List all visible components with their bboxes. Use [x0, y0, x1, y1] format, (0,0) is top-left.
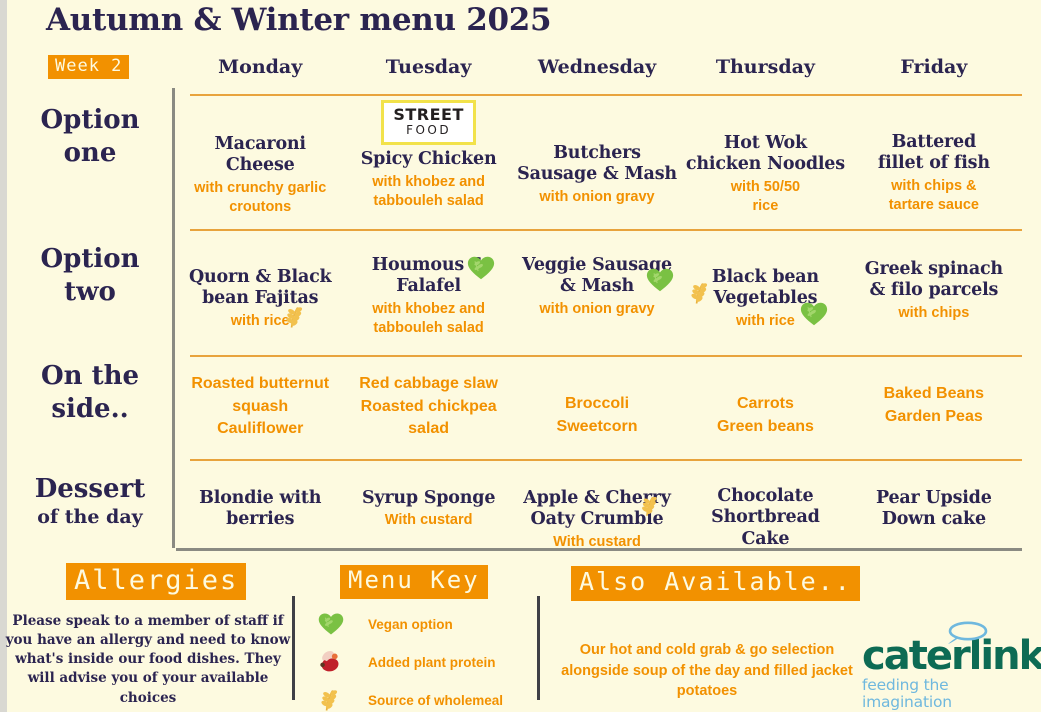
dish-name: Syrup Sponge	[348, 488, 508, 509]
row-label-option-one: Option one	[10, 104, 170, 171]
row-label-dessert: Dessert of the day	[10, 473, 170, 529]
menu-cell: Black beanVegetables with rice	[681, 231, 849, 355]
wholemeal-wheat-icon	[687, 279, 715, 307]
allergies-text: Please speak to a member of staff if you…	[2, 612, 294, 708]
allergies-title: Allergies	[66, 563, 246, 600]
dish-description: with khobez andtabbouleh salad	[348, 300, 508, 339]
vegan-heart-icon	[799, 299, 827, 327]
menu-cell: Apple & CherryOaty Crumble With custard	[513, 461, 681, 548]
menu-cell: MacaroniCheese with crunchy garliccrouto…	[176, 96, 344, 229]
menu-cell: Syrup Sponge With custard	[344, 461, 512, 548]
street-food-line1: STREET	[393, 107, 464, 123]
dish-description: with chips &tartare sauce	[854, 177, 1014, 216]
menu-key-item: Added plant protein	[310, 643, 530, 681]
row-label-line1: Dessert	[10, 473, 170, 506]
dish-description: with onion gravy	[517, 188, 677, 208]
side-items: CarrotsGreen beans	[685, 393, 845, 438]
dish-name: Blondie withberries	[180, 488, 340, 531]
dish-name: Quorn & Blackbean Fajitas	[180, 267, 340, 310]
footer-divider	[292, 596, 295, 700]
row-label-line1: On the	[10, 360, 170, 393]
grid-vertical-divider	[172, 88, 175, 548]
menu-key-label: Vegan option	[352, 617, 453, 632]
menu-key-list: Vegan option Added plant protein	[310, 605, 530, 712]
dish-description: with 50/50rice	[685, 178, 845, 217]
row-label-line1: Option	[10, 104, 170, 137]
side-items: Roasted butternutsquashCauliflower	[180, 373, 340, 441]
dish-description: with rice	[180, 312, 340, 332]
side-items: Red cabbage slawRoasted chickpeasalad	[348, 373, 508, 441]
dish-name: Greek spinach& filo parcels	[854, 259, 1014, 302]
row-label-line2: side..	[10, 393, 170, 426]
dish-description: with khobez andtabbouleh salad	[348, 173, 508, 212]
dish-name: ButchersSausage & Mash	[517, 143, 677, 186]
menu-key-label: Added plant protein	[352, 655, 496, 670]
menu-row-option-one: MacaroniCheese with crunchy garliccrouto…	[176, 96, 1018, 229]
also-available-text: Our hot and cold grab & go selection alo…	[545, 640, 869, 702]
menu-cell: Hot Wokchicken Noodles with 50/50rice	[681, 96, 849, 229]
menu-grid: Monday Tuesday Wednesday Thursday Friday…	[176, 50, 1018, 550]
menu-cell: Quorn & Blackbean Fajitas with rice	[176, 231, 344, 355]
menu-cell: Baked BeansGarden Peas	[850, 357, 1018, 459]
week-badge: Week 2	[48, 55, 129, 79]
dish-name: Hot Wokchicken Noodles	[685, 133, 845, 176]
menu-cell: Pear UpsideDown cake	[850, 461, 1018, 548]
row-label-on-the-side: On the side..	[10, 360, 170, 427]
menu-cell: ButchersSausage & Mash with onion gravy	[513, 96, 681, 229]
row-label-line1: Option	[10, 243, 170, 276]
day-header-row: Monday Tuesday Wednesday Thursday Friday	[176, 50, 1018, 94]
dish-name: Pear UpsideDown cake	[854, 488, 1014, 531]
speech-bubble-icon	[945, 621, 989, 645]
menu-cell: Veggie Sausage& Mash with onion gravy	[513, 231, 681, 355]
wholemeal-wheat-icon	[282, 303, 310, 331]
menu-key-label: Source of wholemeal	[352, 693, 503, 708]
menu-row-option-two: Quorn & Blackbean Fajitas with rice	[176, 231, 1018, 355]
dish-description: With custard	[517, 533, 677, 553]
also-available-title: Also Available..	[571, 566, 860, 601]
menu-cell: Houmous &Falafel with khobez andtabboule…	[344, 231, 512, 355]
menu-cell: Greek spinach& filo parcels with chips	[850, 231, 1018, 355]
row-label-option-two: Option two	[10, 243, 170, 310]
side-items: BroccoliSweetcorn	[517, 393, 677, 438]
day-header-tuesday: Tuesday	[344, 50, 512, 94]
row-label-line2: of the day	[10, 506, 170, 529]
vegan-heart-icon	[466, 253, 494, 281]
page-title: Autumn & Winter menu 2025	[46, 2, 551, 38]
menu-cell: ChocolateShortbread Cake	[681, 461, 849, 548]
menu-cell: CarrotsGreen beans	[681, 357, 849, 459]
dish-description: with onion gravy	[517, 300, 677, 320]
left-edge-strip	[0, 0, 7, 712]
day-header-thursday: Thursday	[681, 50, 849, 94]
street-food-line2: FOOD	[393, 124, 464, 137]
dish-description: with chips	[854, 304, 1014, 324]
logo-tagline: feeding the imagination	[862, 677, 1032, 711]
dish-name: MacaroniCheese	[180, 134, 340, 177]
dish-name: Batteredfillet of fish	[854, 132, 1014, 175]
vegan-heart-icon	[645, 265, 673, 293]
day-header-monday: Monday	[176, 50, 344, 94]
menu-cell: Roasted butternutsquashCauliflower	[176, 357, 344, 459]
menu-key-title: Menu Key	[340, 565, 488, 599]
day-header-friday: Friday	[850, 50, 1018, 94]
dish-name: Spicy Chicken	[348, 149, 508, 170]
wholemeal-wheat-icon	[637, 493, 665, 521]
menu-key-item: Vegan option	[310, 605, 530, 643]
vegan-heart-icon	[310, 610, 352, 638]
side-items: Baked BeansGarden Peas	[854, 383, 1014, 428]
menu-cell: Batteredfillet of fish with chips &tarta…	[850, 96, 1018, 229]
menu-cell: STREET FOOD Spicy Chicken with khobez an…	[344, 96, 512, 229]
menu-cell: BroccoliSweetcorn	[513, 357, 681, 459]
footer-divider	[537, 596, 540, 700]
menu-cell: Blondie withberries	[176, 461, 344, 548]
caterlink-logo: caterlink feeding the imagination	[862, 636, 1032, 711]
menu-page: Autumn & Winter menu 2025 Week 2 Option …	[0, 0, 1041, 712]
dish-description: with crunchy garliccroutons	[180, 179, 340, 218]
day-header-wednesday: Wednesday	[513, 50, 681, 94]
street-food-badge: STREET FOOD	[381, 100, 476, 145]
plant-protein-beans-icon	[310, 647, 352, 677]
wholemeal-wheat-icon	[310, 686, 352, 712]
row-label-line2: one	[10, 137, 170, 170]
row-label-line2: two	[10, 276, 170, 309]
menu-key-item: Source of wholemeal	[310, 681, 530, 712]
menu-row-on-the-side: Roasted butternutsquashCauliflower Red c…	[176, 357, 1018, 459]
dish-name: ChocolateShortbread Cake	[685, 486, 845, 550]
dish-description: With custard	[348, 511, 508, 531]
menu-cell: Red cabbage slawRoasted chickpeasalad	[344, 357, 512, 459]
menu-row-dessert: Blondie withberries Syrup Sponge With cu…	[176, 461, 1018, 548]
